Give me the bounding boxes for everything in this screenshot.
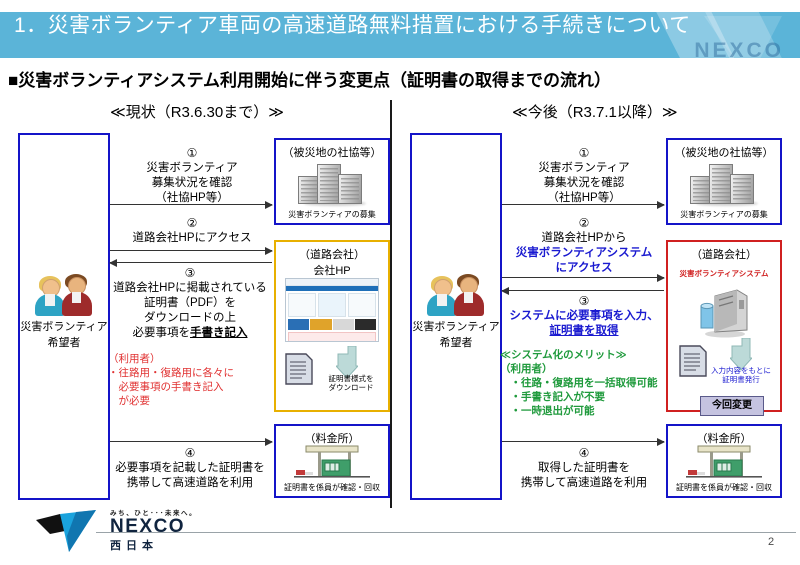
flow-step-1-right: ① 災害ボランティア 募集状況を確認 （社協HP等） bbox=[504, 146, 664, 206]
note-line-2: （利用者） bbox=[500, 362, 658, 376]
download-caption-line2: ダウンロード bbox=[329, 383, 374, 392]
two-people-icon bbox=[425, 274, 487, 318]
flow-step-2-right: ② 道路会社HPから 災害ボランティアシステム にアクセス bbox=[496, 216, 672, 276]
step-blue-line-2: にアクセス bbox=[496, 261, 672, 276]
section-subtitle: ■災害ボランティアシステム利用開始に伴う変更点（証明書の取得までの流れ） bbox=[8, 66, 611, 91]
step-number: ① bbox=[504, 146, 664, 161]
box-shakyo-left: （被災地の社協等） 災害ボランティアの募集 bbox=[274, 138, 390, 225]
step-emphasis: 手書き記入 bbox=[190, 327, 248, 339]
step-blue-underline: 証明書を取得 bbox=[492, 324, 676, 339]
buildings-icon bbox=[688, 162, 760, 206]
actor-label-line2: 希望者 bbox=[20, 336, 108, 350]
box-road-company-right: （道路会社） 災害ボランティアシステム 入力内容をもとに 証明書発行 bbox=[666, 240, 782, 412]
step-line-2: 携帯して高速道路を利用 bbox=[100, 476, 280, 491]
arrow-right-step1-left bbox=[110, 204, 272, 205]
logo-wordmark: NEXCO bbox=[110, 516, 185, 538]
step-line-1: 必要事項を記載した証明書を bbox=[100, 461, 280, 476]
note-user-left: （利用者） ・往路用・復路用に各々に 必要事項の手書き記入 が必要 bbox=[108, 352, 234, 408]
column-title-future: ≪今後（R3.7.1以降）≫ bbox=[512, 101, 678, 122]
box-footer: 証明書を係員が確認・回収 bbox=[668, 482, 780, 493]
arrow-left-response-left bbox=[110, 262, 272, 263]
box-caption: （被災地の社協等） bbox=[276, 144, 388, 160]
issue-caption-line1: 入力内容をもとに bbox=[711, 366, 771, 375]
step-number: ④ bbox=[492, 446, 676, 461]
page-title: 1．災害ボランティア車両の高速道路無料措置における手続きについて bbox=[14, 9, 691, 39]
flow-step-4-left: ④ 必要事項を記載した証明書を 携帯して高速道路を利用 bbox=[100, 446, 280, 491]
step-line-2: 募集状況を確認 bbox=[504, 176, 664, 191]
box-caption: （道路会社） bbox=[668, 246, 780, 262]
flow-step-3-left: ③ 道路会社HPに掲載されている 証明書（PDF）を ダウンロードの上 必要事項… bbox=[100, 266, 280, 341]
flow-step-1-left: ① 災害ボランティア 募集状況を確認 （社協HP等） bbox=[112, 146, 272, 206]
step-line-1: 道路会社HPから bbox=[496, 231, 672, 246]
download-caption: 証明書様式を ダウンロード bbox=[320, 374, 382, 392]
step-number: ① bbox=[112, 146, 272, 161]
nexco-mark-icon bbox=[36, 510, 102, 552]
step-blue-line-1: システムに必要事項を入力、 bbox=[492, 309, 676, 324]
step-blue-line-1: 災害ボランティアシステム bbox=[496, 246, 672, 261]
step-emphasis-prefix: 必要事項を bbox=[133, 327, 191, 339]
box-toll-gate-right: （料金所） 証明書を係員が確認・回収 bbox=[666, 424, 782, 498]
step-number: ② bbox=[496, 216, 672, 231]
step-line-2: 携帯して高速道路を利用 bbox=[492, 476, 676, 491]
actor-box-volunteer-left: 災害ボランティア 希望者 bbox=[18, 133, 110, 500]
note-line-4: が必要 bbox=[108, 394, 234, 408]
step-line-1: 取得した証明書を bbox=[492, 461, 676, 476]
server-icon bbox=[697, 286, 751, 338]
buildings-icon bbox=[296, 162, 368, 206]
page-number: 2 bbox=[768, 536, 774, 548]
column-divider bbox=[390, 100, 392, 508]
status-badge-change: 今回変更 bbox=[700, 396, 764, 416]
system-name-label: 災害ボランティアシステム bbox=[668, 268, 780, 279]
flow-step-2-left: ② 道路会社HPにアクセス bbox=[112, 216, 272, 246]
arrow-right-step4-left bbox=[110, 441, 272, 442]
step-line-2: 証明書（PDF）を bbox=[100, 296, 280, 311]
actor-label-line2: 希望者 bbox=[412, 336, 500, 350]
website-thumbnail-icon bbox=[285, 278, 379, 342]
step-line-1: 災害ボランティア bbox=[504, 161, 664, 176]
note-line-3: ・往路・復路用を一括取得可能 bbox=[500, 376, 658, 390]
logo-region: 西日本 bbox=[110, 537, 158, 553]
note-line-4: ・手書き記入が不要 bbox=[500, 390, 658, 404]
slide-root: NEXCO 1．災害ボランティア車両の高速道路無料措置における手続きについて ■… bbox=[0, 0, 800, 565]
step-line-3: ダウンロードの上 bbox=[100, 311, 280, 326]
note-line-1: （利用者） bbox=[108, 352, 234, 366]
box-caption: （被災地の社協等） bbox=[668, 144, 780, 160]
step-number: ④ bbox=[100, 446, 280, 461]
certificate-document-icon bbox=[678, 344, 708, 378]
step-line-1: 災害ボランティア bbox=[112, 161, 272, 176]
actor-box-volunteer-right: 災害ボランティア 希望者 bbox=[410, 133, 502, 500]
download-caption-line1: 証明書様式を bbox=[329, 374, 374, 383]
box-heading: 会社HP bbox=[276, 262, 388, 278]
step-number: ② bbox=[112, 216, 272, 231]
box-shakyo-right: （被災地の社協等） 災害ボランティアの募集 bbox=[666, 138, 782, 225]
note-merits-right: ≪システム化のメリット≫ （利用者） ・往路・復路用を一括取得可能 ・手書き記入… bbox=[500, 348, 658, 418]
toll-gate-icon bbox=[292, 444, 372, 480]
note-line-2: ・往路用・復路用に各々に bbox=[108, 366, 234, 380]
issue-caption-line2: 証明書発行 bbox=[722, 375, 760, 384]
actor-inner-left: 災害ボランティア 希望者 bbox=[20, 274, 108, 350]
issue-caption: 入力内容をもとに 証明書発行 bbox=[710, 366, 772, 384]
arrow-right-step1-right bbox=[502, 204, 664, 205]
column-title-current: ≪現状（R3.6.30まで）≫ bbox=[110, 101, 284, 122]
nexco-watermark: NEXCO bbox=[694, 39, 784, 58]
step-number: ③ bbox=[100, 266, 280, 281]
flow-step-3-right: ③ システムに必要事項を入力、 証明書を取得 bbox=[492, 294, 676, 339]
arrow-right-step4-right bbox=[502, 441, 664, 442]
note-line-1: ≪システム化のメリット≫ bbox=[500, 348, 658, 362]
arrow-right-step2-right bbox=[502, 277, 664, 278]
nexco-logo: みち、ひと･･･未来へ。 NEXCO 西日本 bbox=[36, 506, 266, 554]
note-line-3: 必要事項の手書き記入 bbox=[108, 380, 234, 394]
box-toll-gate-left: （料金所） 証明書を係員が確認・回収 bbox=[274, 424, 390, 498]
step-line-4: 必要事項を手書き記入 bbox=[100, 326, 280, 341]
actor-label-line1: 災害ボランティア bbox=[412, 320, 500, 334]
step-number: ③ bbox=[492, 294, 676, 309]
step-line-2: 募集状況を確認 bbox=[112, 176, 272, 191]
box-road-company-left: （道路会社） 会社HP 証明書様式を ダウンロード bbox=[274, 240, 390, 412]
flow-step-4-right: ④ 取得した証明書を 携帯して高速道路を利用 bbox=[492, 446, 676, 491]
toll-gate-icon bbox=[684, 444, 764, 480]
step-line-1: 道路会社HPに掲載されている bbox=[100, 281, 280, 296]
box-footer: 災害ボランティアの募集 bbox=[276, 209, 388, 220]
box-caption: （道路会社） bbox=[276, 246, 388, 262]
actor-inner-right: 災害ボランティア 希望者 bbox=[412, 274, 500, 350]
box-footer: 証明書を係員が確認・回収 bbox=[276, 482, 388, 493]
two-people-icon bbox=[33, 274, 95, 318]
actor-label-line1: 災害ボランティア bbox=[20, 320, 108, 334]
arrow-right-step2-left bbox=[110, 250, 272, 251]
note-line-5: ・一時退出が可能 bbox=[500, 404, 658, 418]
document-icon bbox=[284, 352, 314, 386]
box-footer: 災害ボランティアの募集 bbox=[668, 209, 780, 220]
arrow-left-response-right bbox=[502, 290, 664, 291]
step-line-1: 道路会社HPにアクセス bbox=[112, 231, 272, 246]
